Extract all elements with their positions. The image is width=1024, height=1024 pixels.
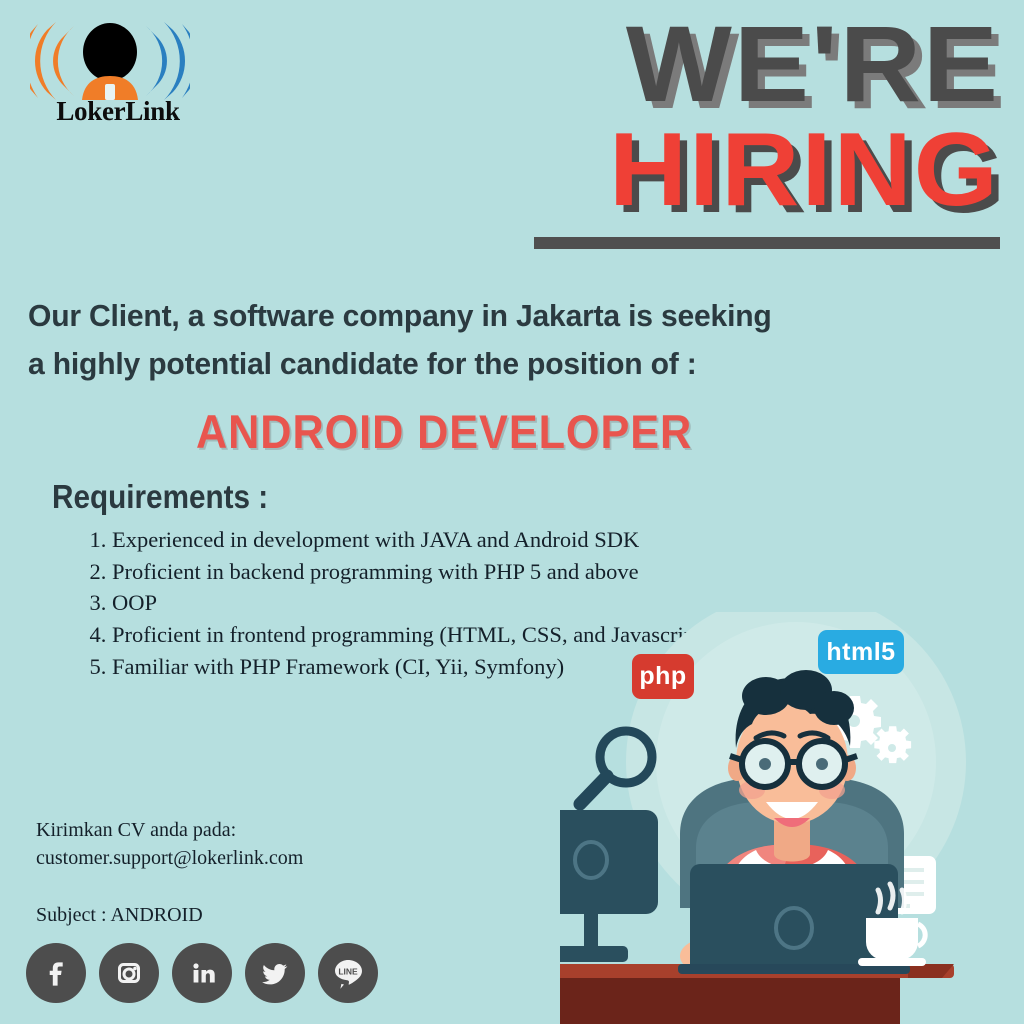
contact-email[interactable]: customer.support@lokerlink.com xyxy=(36,844,303,872)
intro-line-1: Our Client, a software company in Jakart… xyxy=(28,292,804,340)
line-icon[interactable]: LINE xyxy=(318,943,378,1003)
php-badge: php xyxy=(632,654,694,699)
cv-label: Kirimkan CV anda pada: xyxy=(36,816,303,844)
requirement-item: Experienced in development with JAVA and… xyxy=(112,524,812,556)
headline: WE'RE HIRING xyxy=(534,14,1000,249)
illustration-svg xyxy=(560,612,1024,1024)
intro-line-2: a highly potential candidate for the pos… xyxy=(28,340,804,388)
intro-text: Our Client, a software company in Jakart… xyxy=(28,292,804,388)
logo: LokerLink xyxy=(30,22,195,127)
developer-illustration: php html5 xyxy=(560,612,1024,1024)
linkedin-icon[interactable] xyxy=(172,943,232,1003)
twitter-icon[interactable] xyxy=(245,943,305,1003)
requirements-heading: Requirements : xyxy=(52,478,268,516)
svg-text:LINE: LINE xyxy=(338,967,358,977)
headline-were: WE'RE xyxy=(515,14,1000,113)
instagram-icon[interactable] xyxy=(99,943,159,1003)
headline-underline xyxy=(534,237,1000,249)
facebook-icon[interactable] xyxy=(26,943,86,1003)
social-links: LINE xyxy=(26,943,378,1003)
requirement-item: Proficient in backend programming with P… xyxy=(112,556,812,588)
lokerlink-logo-mark xyxy=(30,22,190,100)
job-title: ANDROID DEVELOPER xyxy=(196,404,692,459)
logo-text: LokerLink xyxy=(32,98,204,125)
headline-hiring: HIRING xyxy=(515,123,1000,219)
html5-badge: html5 xyxy=(818,630,904,674)
email-subject: Subject : ANDROID xyxy=(36,901,303,929)
job-poster: LokerLink WE'RE HIRING Our Client, a sof… xyxy=(0,0,1024,1024)
monitor xyxy=(560,810,658,962)
contact-block: Kirimkan CV anda pada: customer.support@… xyxy=(36,816,303,929)
